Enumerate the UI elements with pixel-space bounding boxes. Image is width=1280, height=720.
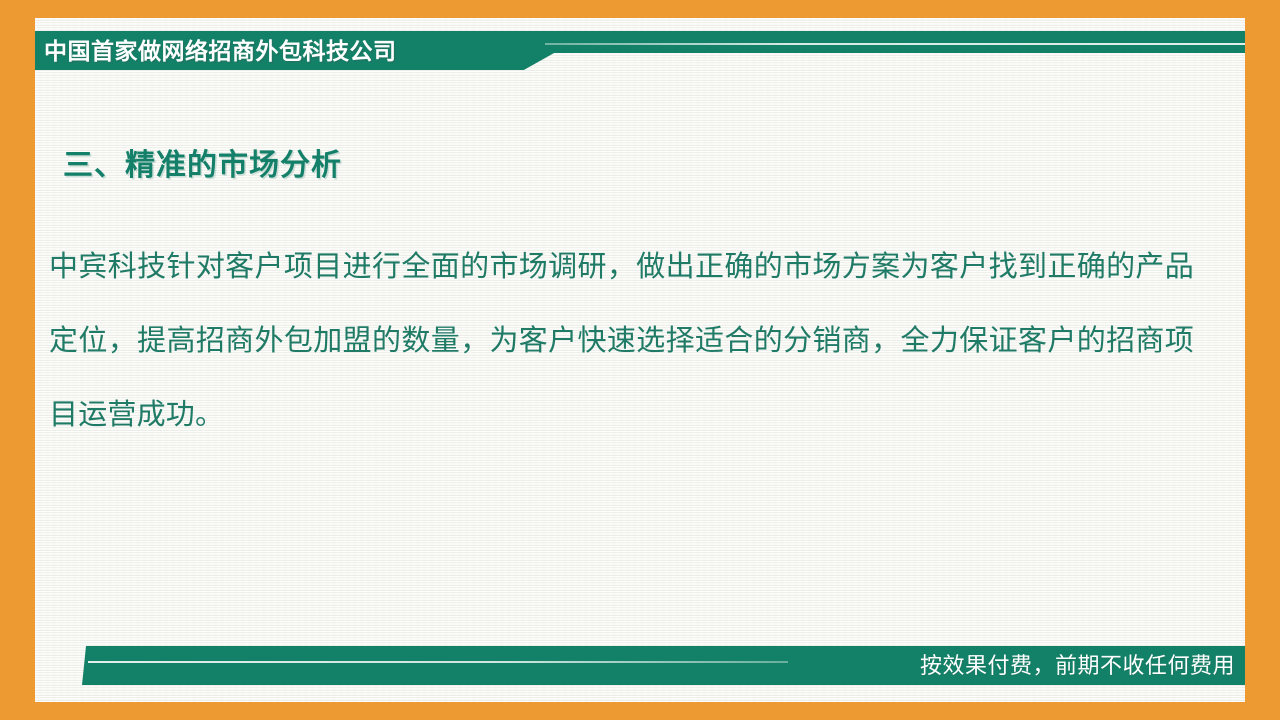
slide-canvas: 中国首家做网络招商外包科技公司 三、精准的市场分析 中宾科技针对客户项目进行全面… [0,0,1280,720]
slide-content: 三、精准的市场分析 中宾科技针对客户项目进行全面的市场调研，做出正确的市场方案为… [35,90,1245,635]
body-paragraph: 中宾科技针对客户项目进行全面的市场调研，做出正确的市场方案为客户找到正确的产品定… [49,230,1194,452]
section-title: 三、精准的市场分析 [63,140,342,184]
